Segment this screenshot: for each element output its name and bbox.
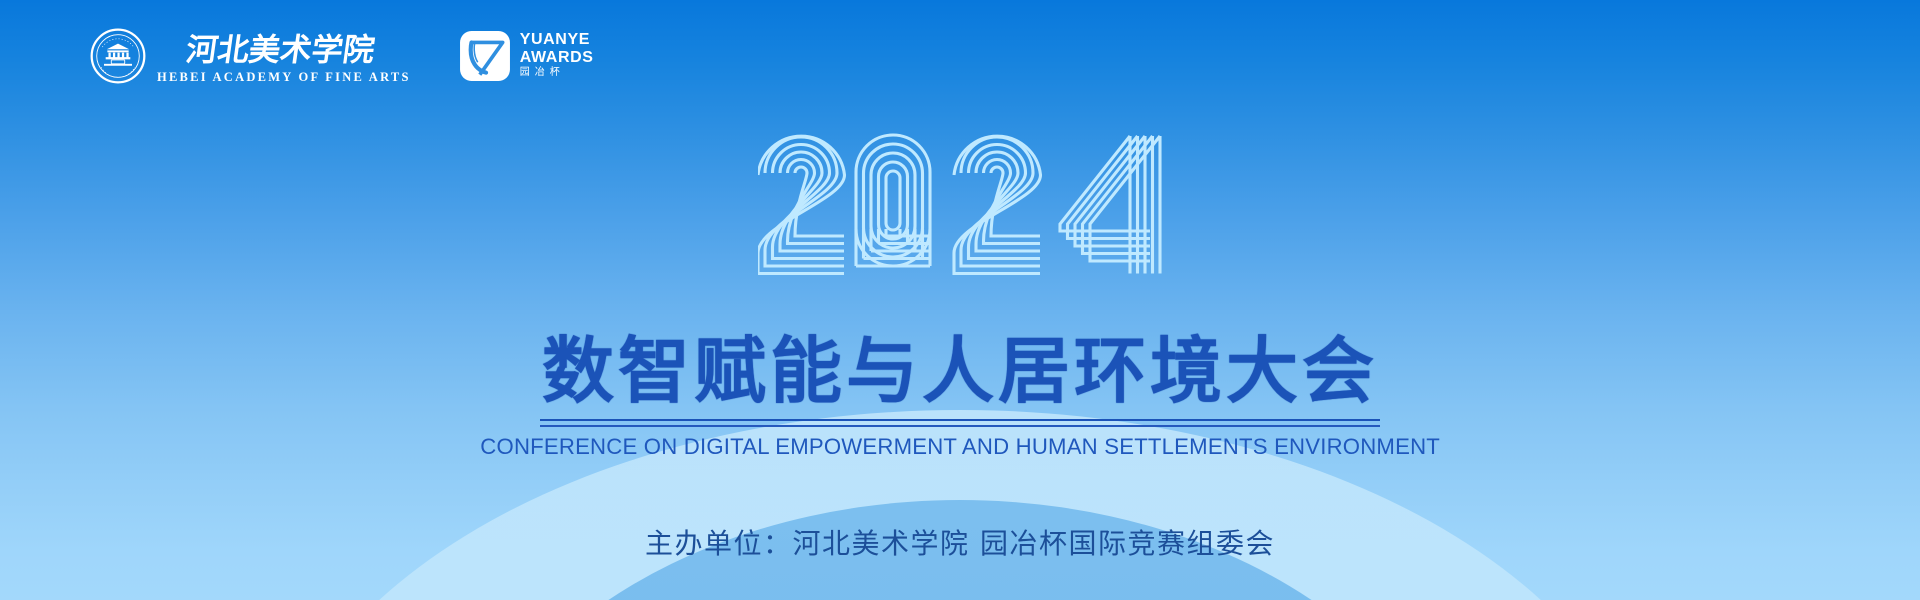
divider-line-bottom	[540, 425, 1380, 427]
year-graphic	[0, 128, 1920, 276]
title-divider	[540, 419, 1380, 427]
organizers-line: 主办单位：河北美术学院 园冶杯国际竞赛组委会	[0, 530, 1920, 558]
yuanye-leaf-mark-icon	[459, 30, 511, 82]
yuanye-wordmark-line1: YUANYE	[520, 32, 594, 48]
university-seal-icon	[90, 28, 146, 84]
conference-title-cn: 数智赋能与人居环境大会	[542, 335, 1378, 407]
logo-row: 河北美术学院 HEBEI ACADEMY OF FINE ARTS YUANYE…	[90, 28, 594, 84]
divider-line-top	[540, 419, 1380, 421]
yuanye-wordmark-line2: AWARDS	[520, 50, 594, 66]
title-block: 数智赋能与人居环境大会 CONFERENCE ON DIGITAL EMPOWE…	[0, 335, 1920, 458]
conference-title-en: CONFERENCE ON DIGITAL EMPOWERMENT AND HU…	[480, 436, 1440, 459]
conference-banner: 河北美术学院 HEBEI ACADEMY OF FINE ARTS YUANYE…	[0, 0, 1920, 600]
year-2024-striped	[758, 128, 1162, 276]
hebei-academy-logo[interactable]: 河北美术学院 HEBEI ACADEMY OF FINE ARTS	[90, 28, 411, 84]
hebei-academy-name-cn: 河北美术学院	[184, 31, 384, 69]
svg-text:河北美术学院: 河北美术学院	[184, 31, 377, 68]
yuanye-awards-logo[interactable]: YUANYE AWARDS 园冶杯	[459, 30, 594, 82]
yuanye-name-cn: 园冶杯	[520, 67, 594, 80]
hebei-academy-name-en: HEBEI ACADEMY OF FINE ARTS	[157, 71, 411, 84]
